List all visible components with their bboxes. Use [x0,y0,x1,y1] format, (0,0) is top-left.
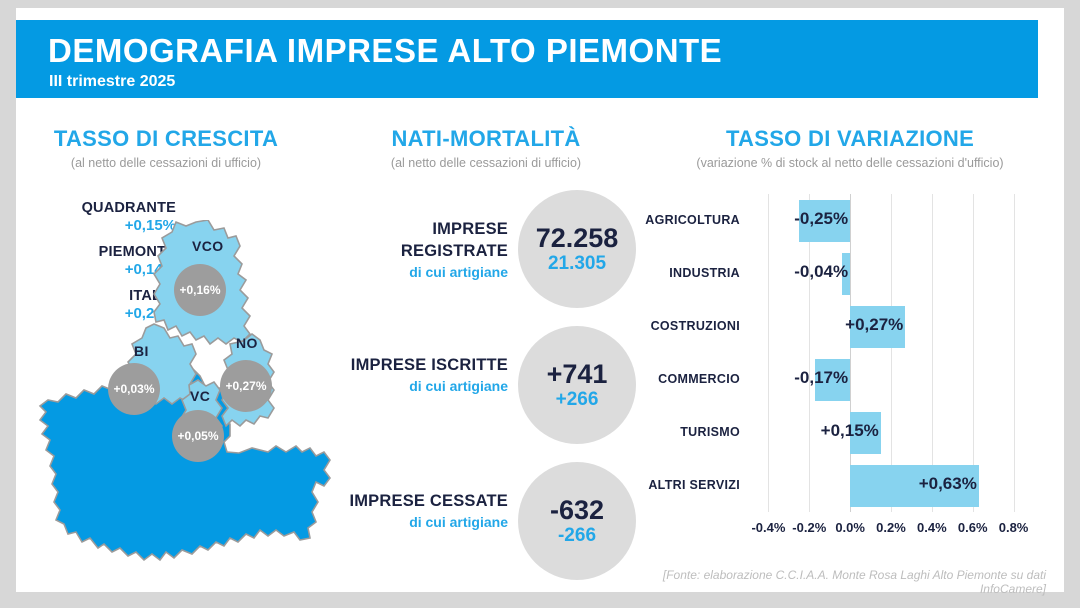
growth-section: TASSO DI CRESCITA (al netto delle cessaz… [16,108,356,588]
piemonte-map: VCO +0,16% BI +0,03% NO +0,27% VC +0,05% [24,220,354,585]
variation-section: TASSO DI VARIAZIONE (variazione % di sto… [636,108,1064,588]
stat-iscritte-text: IMPRESE ISCRITTE di cui artigiane [340,354,508,396]
stat-cessate-value: -632 [550,495,604,525]
map-label-bi: BI [134,343,149,359]
stat-registrate-value: 72.258 [536,223,619,253]
stat-registrate-text: IMPRESE REGISTRATE di cui artigiane [340,218,508,282]
map-bubble-vco: +0,16% [174,264,226,316]
stat-cessate-text: IMPRESE CESSATE di cui artigiane [340,490,508,532]
bar-value-label-costruzioni: +0,27% [843,315,903,335]
bar-value-label-commercio: -0,17% [790,368,848,388]
page-title: DEMOGRAFIA IMPRESE ALTO PIEMONTE [48,32,722,70]
natimortalita-section-title: NATI-MORTALITÀ [336,126,636,152]
category-label-altri-servizi: ALTRI SERVIZI [636,478,740,492]
source-note: [Fonte: elaborazione C.C.I.A.A. Monte Ro… [636,568,1046,596]
category-label-turismo: TURISMO [636,425,740,439]
stat-iscritte-value: +741 [547,359,608,389]
natimortalita-section: NATI-MORTALITÀ (al netto delle cessazion… [336,108,636,588]
stat-registrate-circle: 72.258 21.305 [518,190,636,308]
natimortalita-section-subtitle: (al netto delle cessazioni di ufficio) [336,156,636,170]
variation-bar-chart: -0,25%AGRICOLTURA-0,04%INDUSTRIA+0,27%CO… [748,194,1034,512]
variation-section-title: TASSO DI VARIAZIONE [636,126,1064,152]
map-label-vco: VCO [192,238,224,254]
variation-section-subtitle: (variazione % di stock al netto delle ce… [636,156,1064,170]
gridline-6 [1014,194,1015,512]
bar-value-label-agricoltura: -0,25% [790,209,848,229]
stat-cessate-label: IMPRESE CESSATE [340,490,508,512]
category-label-agricoltura: AGRICOLTURA [636,213,740,227]
category-label-industria: INDUSTRIA [636,266,740,280]
stat-iscritte-circle: +741 +266 [518,326,636,444]
gridline-0 [768,194,769,512]
bar-value-label-altri-servizi: +0,63% [917,474,977,494]
stat-imprese-registrate: IMPRESE REGISTRATE di cui artigiane 72.2… [336,190,636,310]
stat-imprese-iscritte: IMPRESE ISCRITTE di cui artigiane +741 +… [336,326,636,446]
stat-cessate-subvalue: -266 [558,525,596,547]
map-label-vc: VC [190,388,210,404]
category-label-costruzioni: COSTRUZIONI [636,319,740,333]
stat-iscritte-sublabel: di cui artigiane [340,376,508,396]
map-bubble-bi: +0,03% [108,363,160,415]
stat-cessate-sublabel: di cui artigiane [340,512,508,532]
gridline-1 [809,194,810,512]
page-subtitle: III trimestre 2025 [49,73,175,91]
infographic-page: DEMOGRAFIA IMPRESE ALTO PIEMONTE III tri… [16,8,1064,592]
kpi-quadrante-label: QUADRANTE [26,200,176,217]
header-banner: DEMOGRAFIA IMPRESE ALTO PIEMONTE III tri… [16,20,1038,98]
stat-imprese-cessate: IMPRESE CESSATE di cui artigiane -632 -2… [336,462,636,582]
stat-registrate-subvalue: 21.305 [548,253,606,275]
x-tick-6: 0.8% [984,520,1044,535]
growth-section-title: TASSO DI CRESCITA [16,126,316,152]
stat-registrate-sublabel: di cui artigiane [340,262,508,282]
stat-iscritte-subvalue: +266 [556,389,599,411]
category-label-commercio: COMMERCIO [636,372,740,386]
map-bubble-no: +0,27% [220,360,272,412]
bar-value-label-industria: -0,04% [790,262,848,282]
stat-iscritte-label: IMPRESE ISCRITTE [340,354,508,376]
stat-registrate-label: IMPRESE REGISTRATE [340,218,508,262]
bar-value-label-turismo: +0,15% [819,421,879,441]
map-label-no: NO [236,335,258,351]
map-bubble-vc: +0,05% [172,410,224,462]
stat-cessate-circle: -632 -266 [518,462,636,580]
growth-section-subtitle: (al netto delle cessazioni di ufficio) [16,156,316,170]
